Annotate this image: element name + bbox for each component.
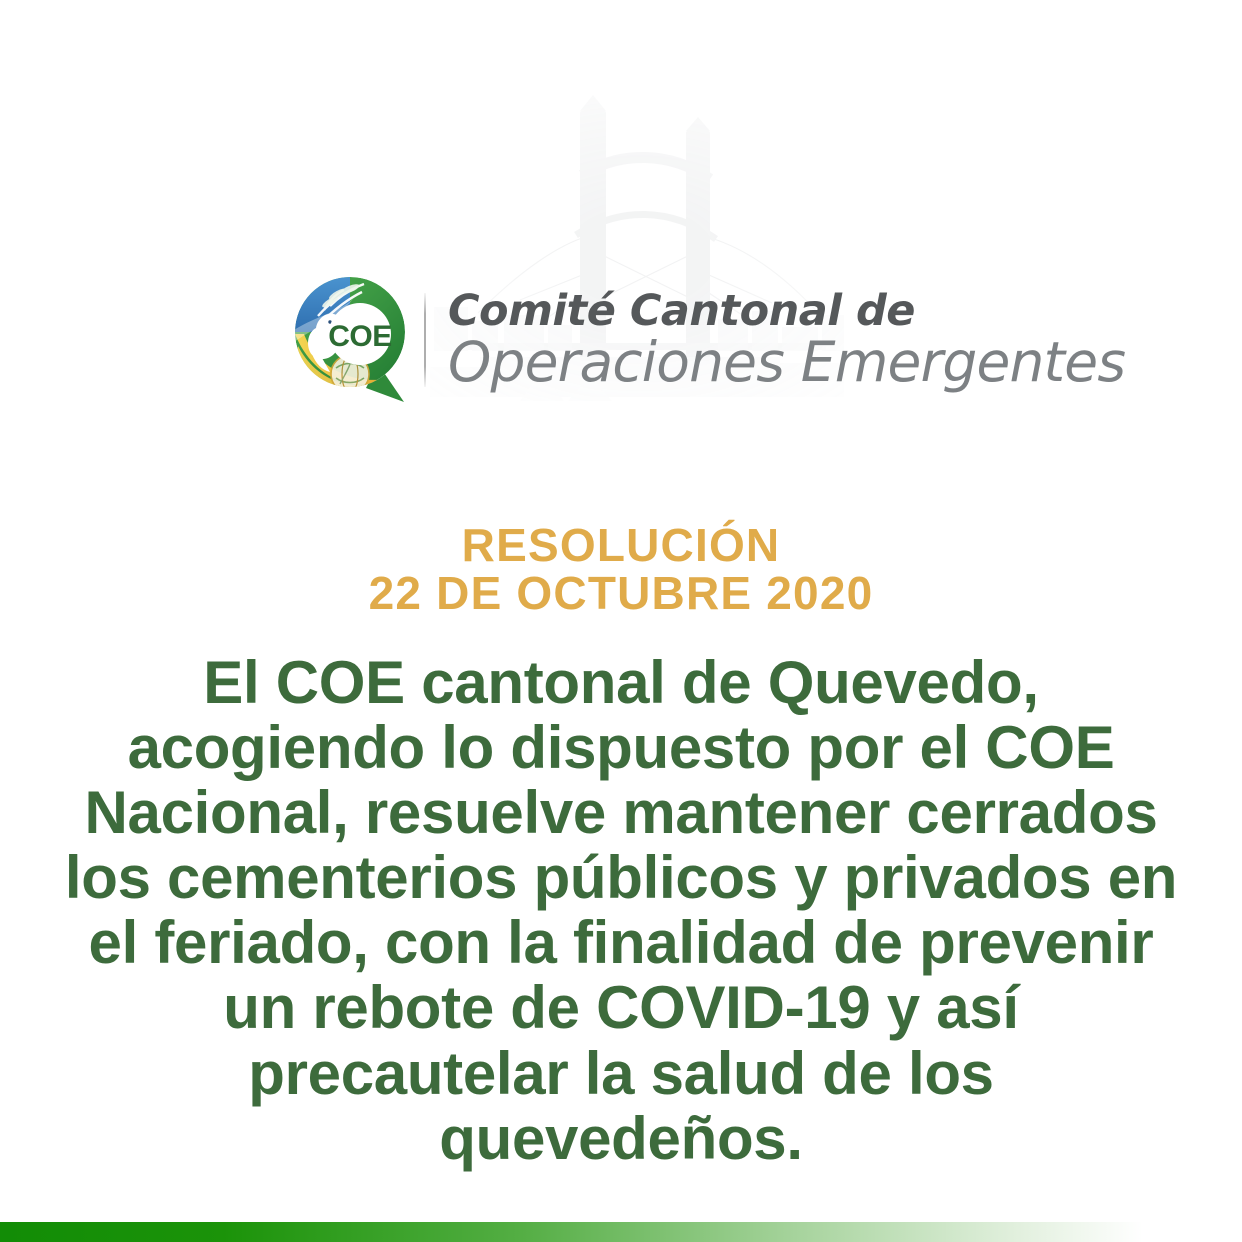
poster-canvas: COE Comité Cantonal de Operaciones Emerg… xyxy=(0,0,1242,1242)
logo-line-comite: Comité Cantonal de xyxy=(448,290,1125,333)
coe-logo-mark: COE xyxy=(292,272,416,408)
coe-logo-lockup: COE Comité Cantonal de Operaciones Emerg… xyxy=(292,272,1125,408)
logo-line-operaciones: Operaciones Emergentes xyxy=(448,335,1125,390)
bottom-accent-bar xyxy=(0,1222,1242,1242)
logo-divider xyxy=(424,293,426,387)
resolution-statement: El COE cantonal de Quevedo, acogiendo lo… xyxy=(46,650,1196,1171)
svg-text:COE: COE xyxy=(328,320,392,353)
resolution-heading: RESOLUCIÓN 22 DE OCTUBRE 2020 xyxy=(0,522,1242,618)
logo-wordmark: Comité Cantonal de Operaciones Emergente… xyxy=(448,290,1125,390)
